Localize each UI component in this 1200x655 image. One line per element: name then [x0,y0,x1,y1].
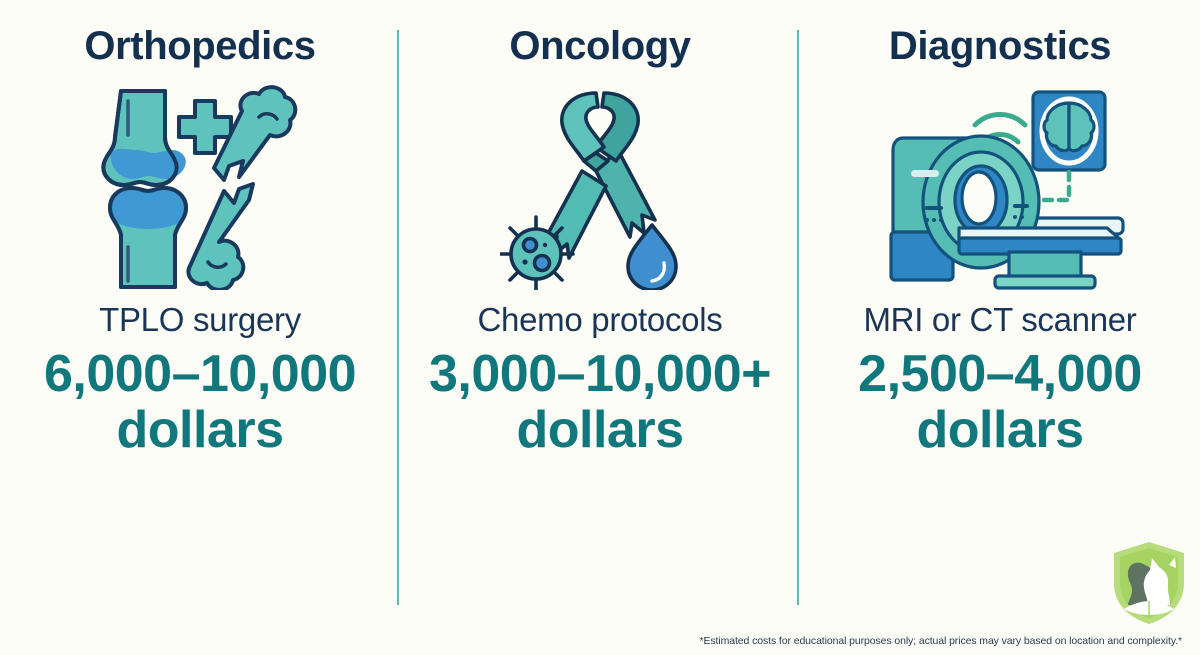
bone-joint-fracture-icon-svg [95,85,305,290]
column-oncology: Oncology [400,0,800,655]
columns-container: Orthopedics [0,0,1200,655]
column-description-diagnostics: MRI or CT scanner [855,302,1144,338]
column-title-oncology: Oncology [509,26,690,66]
awareness-ribbon-icon-svg [500,85,700,290]
column-title-diagnostics: Diagnostics [889,26,1111,66]
mri-scanner-icon-svg [863,80,1138,295]
column-title-orthopedics: Orthopedics [84,26,315,66]
awareness-ribbon-icon [400,72,800,302]
column-price-diagnostics: 2,500–4,000 dollars [800,346,1200,458]
column-price-oncology: 3,000–10,000+ dollars [400,346,800,458]
column-orthopedics: Orthopedics [0,0,400,655]
pet-shield-logo-svg [1108,539,1190,627]
mri-scanner-icon [800,72,1200,302]
column-description-oncology: Chemo protocols [470,302,731,338]
bone-joint-fracture-icon [0,72,400,302]
column-price-orthopedics: 6,000–10,000 dollars [0,346,400,458]
infographic-canvas: Orthopedics [0,0,1200,655]
footnote-disclaimer: *Estimated costs for educational purpose… [700,635,1182,647]
pet-shield-logo [1108,539,1190,627]
column-description-orthopedics: TPLO surgery [91,302,309,338]
